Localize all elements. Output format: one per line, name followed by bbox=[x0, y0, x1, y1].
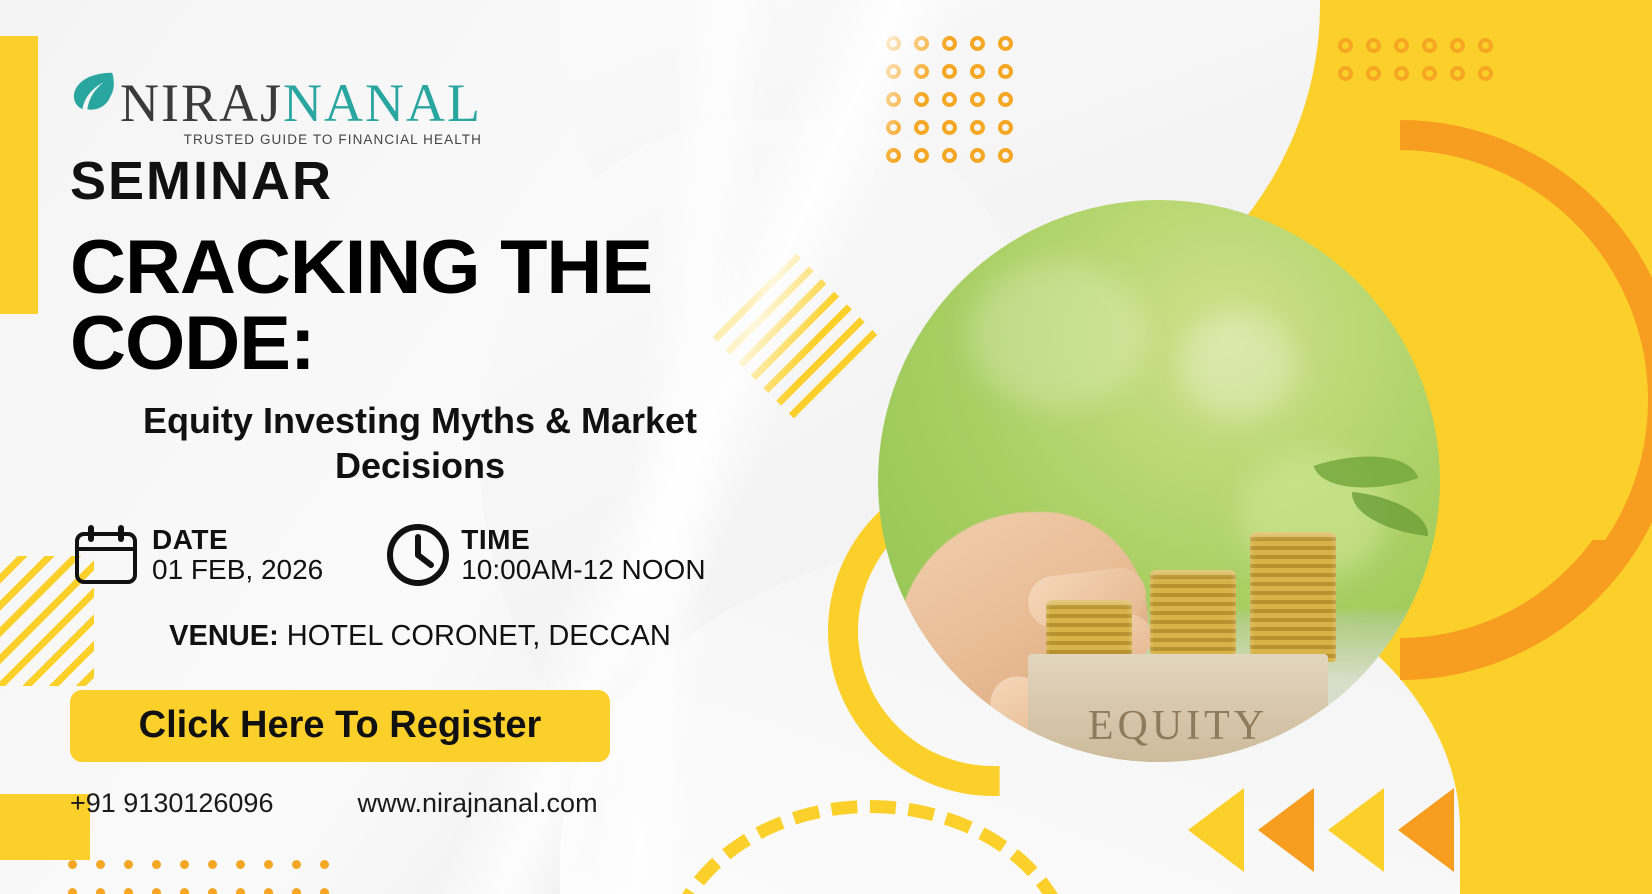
coin-stack-large bbox=[1250, 532, 1336, 662]
date-value: 01 FEB, 2026 bbox=[152, 555, 323, 585]
dot-ring bbox=[998, 148, 1013, 163]
contact-footer: +91 9130126096 www.nirajnanal.com bbox=[70, 788, 830, 819]
chevron-arrow-icon bbox=[1328, 788, 1384, 872]
dot bbox=[96, 860, 105, 869]
dot-ring bbox=[1422, 66, 1437, 81]
coin-stack-small bbox=[1046, 600, 1132, 662]
leaf-icon bbox=[70, 68, 116, 114]
bokeh-highlight bbox=[1178, 310, 1298, 420]
dot-ring bbox=[970, 64, 985, 79]
dot bbox=[208, 860, 217, 869]
dot bbox=[152, 860, 161, 869]
dot bbox=[236, 888, 245, 894]
dot bbox=[292, 888, 301, 894]
website-url[interactable]: www.nirajnanal.com bbox=[357, 788, 597, 819]
dot bbox=[264, 888, 273, 894]
equity-coins-photo: EQUITY bbox=[878, 200, 1440, 762]
dot-ring bbox=[942, 36, 957, 51]
dot-ring bbox=[970, 120, 985, 135]
dot bbox=[320, 860, 329, 869]
dot-ring bbox=[1338, 66, 1353, 81]
clock-icon bbox=[383, 520, 453, 590]
dot bbox=[96, 888, 105, 894]
seminar-promo-banner: EQUITY NIRAJNANAL TRUSTED GUIDE TO FINAN… bbox=[0, 0, 1652, 894]
phone-number[interactable]: +91 9130126096 bbox=[70, 788, 273, 819]
dot-ring bbox=[1478, 66, 1493, 81]
dot-ring bbox=[970, 36, 985, 51]
dot-ring bbox=[914, 36, 929, 51]
dot-ring bbox=[1394, 66, 1409, 81]
chevron-arrow-icon bbox=[1258, 788, 1314, 872]
corner-yellow-square bbox=[1462, 734, 1652, 894]
dot-ring bbox=[942, 64, 957, 79]
dot bbox=[180, 888, 189, 894]
dot-ring bbox=[998, 36, 1013, 51]
dot-ring bbox=[942, 120, 957, 135]
dot-ring bbox=[970, 148, 985, 163]
dot-ring bbox=[1422, 38, 1437, 53]
dot-ring bbox=[998, 120, 1013, 135]
dot-ring bbox=[914, 120, 929, 135]
dot-grid-bottom-left bbox=[68, 860, 348, 894]
dot bbox=[124, 888, 133, 894]
dot-ring bbox=[1394, 38, 1409, 53]
dot-ring bbox=[1478, 38, 1493, 53]
dot bbox=[208, 888, 217, 894]
content-column: NIRAJNANAL TRUSTED GUIDE TO FINANCIAL HE… bbox=[70, 52, 830, 819]
logo-wordmark: NIRAJNANAL TRUSTED GUIDE TO FINANCIAL HE… bbox=[120, 76, 482, 130]
dot-ring bbox=[1450, 66, 1465, 81]
register-button[interactable]: Click Here To Register bbox=[70, 690, 610, 762]
bokeh-highlight bbox=[968, 260, 1148, 410]
dot-ring bbox=[998, 92, 1013, 107]
time-text: TIME 10:00AM-12 NOON bbox=[461, 525, 705, 585]
dot-ring bbox=[914, 64, 929, 79]
logo-primary-text: NIRAJ bbox=[120, 73, 283, 133]
dot-ring bbox=[1366, 38, 1381, 53]
dot-ring bbox=[1450, 38, 1465, 53]
dot-ring bbox=[970, 92, 985, 107]
dot-ring bbox=[942, 148, 957, 163]
date-time-row: DATE 01 FEB, 2026 TIME 10:00AM-12 NOON bbox=[70, 518, 830, 592]
event-kicker: SEMINAR bbox=[70, 154, 830, 208]
date-text: DATE 01 FEB, 2026 bbox=[152, 525, 323, 585]
dot-grid-left bbox=[886, 36, 1026, 176]
dot bbox=[68, 888, 77, 894]
venue-line: VENUE: HOTEL CORONET, DECCAN bbox=[70, 618, 770, 656]
chevron-arrow-icon bbox=[1398, 788, 1454, 872]
dot-ring bbox=[942, 92, 957, 107]
page-title: CRACKING THE CODE: bbox=[70, 230, 845, 382]
dot-ring bbox=[914, 148, 929, 163]
dot bbox=[264, 860, 273, 869]
dot-ring bbox=[886, 92, 901, 107]
time-block: TIME 10:00AM-12 NOON bbox=[383, 520, 705, 590]
logo-tagline: TRUSTED GUIDE TO FINANCIAL HEALTH bbox=[184, 132, 482, 147]
dot bbox=[152, 888, 161, 894]
dot-ring bbox=[998, 64, 1013, 79]
dot-ring bbox=[914, 92, 929, 107]
dot-grid-right bbox=[1338, 38, 1506, 94]
dot bbox=[320, 888, 329, 894]
chevron-arrow-icon bbox=[1188, 788, 1244, 872]
dot-ring bbox=[1366, 66, 1381, 81]
calendar-icon bbox=[70, 518, 144, 592]
date-block: DATE 01 FEB, 2026 bbox=[70, 518, 323, 592]
dot-ring bbox=[886, 148, 901, 163]
dot bbox=[292, 860, 301, 869]
brand-logo: NIRAJNANAL TRUSTED GUIDE TO FINANCIAL HE… bbox=[70, 52, 830, 130]
dot-ring bbox=[886, 36, 901, 51]
dot bbox=[180, 860, 189, 869]
venue-value: HOTEL CORONET, DECCAN bbox=[287, 620, 671, 652]
event-subtitle: Equity Investing Myths & Market Decision… bbox=[70, 398, 770, 488]
dot bbox=[124, 860, 133, 869]
date-label: DATE bbox=[152, 525, 323, 555]
dot-ring bbox=[886, 120, 901, 135]
logo-words: NIRAJNANAL bbox=[120, 76, 482, 130]
time-value: 10:00AM-12 NOON bbox=[461, 555, 705, 585]
logo-secondary-text: NANAL bbox=[283, 73, 482, 133]
wooden-block-label: EQUITY bbox=[1028, 702, 1328, 750]
dot-ring bbox=[886, 64, 901, 79]
left-yellow-bar bbox=[0, 36, 38, 314]
venue-label: VENUE: bbox=[169, 620, 279, 652]
dot-ring bbox=[1338, 38, 1353, 53]
time-label: TIME bbox=[461, 525, 705, 555]
coin-stack-medium bbox=[1150, 570, 1236, 662]
dot bbox=[236, 860, 245, 869]
dot bbox=[68, 860, 77, 869]
